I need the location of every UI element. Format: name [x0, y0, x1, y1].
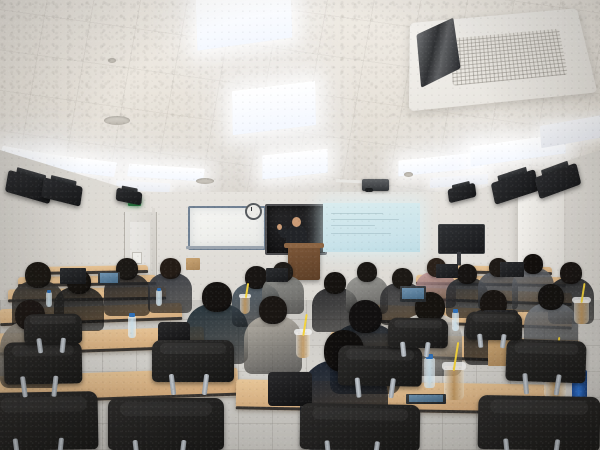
laptop-screen: [100, 273, 118, 283]
water-bottle: [156, 290, 162, 306]
chair-leg: [400, 342, 407, 357]
monitor: [60, 268, 86, 284]
presenter-head: [292, 217, 301, 227]
attendee: [244, 296, 302, 382]
water-bottle: [424, 358, 435, 388]
wall-tv: [438, 224, 485, 254]
podium-top: [284, 243, 324, 248]
chair-leg: [551, 439, 560, 450]
chair-leg: [522, 373, 529, 394]
chair[interactable]: [478, 395, 600, 450]
laptop[interactable]: [406, 394, 446, 404]
attendee-head: [560, 262, 582, 284]
chair-highlight: [120, 402, 213, 416]
iced-coffee-cup: [296, 332, 310, 358]
water-bottle: [128, 316, 136, 338]
chair-leg: [372, 441, 380, 450]
chair[interactable]: [388, 317, 449, 348]
attendee-head: [25, 262, 51, 288]
chair[interactable]: [338, 345, 423, 386]
whiteboard-marker-tray: [186, 246, 264, 249]
laptop[interactable]: [98, 272, 120, 285]
attendee-head: [538, 284, 564, 310]
attendee-head: [457, 264, 477, 284]
attendee-head: [259, 296, 287, 324]
projector-lens-icon: [365, 188, 373, 192]
attendee-head: [349, 300, 382, 333]
bottle-cap-icon: [47, 290, 51, 293]
monitor: [500, 262, 524, 277]
chair-highlight: [312, 407, 408, 421]
attendee: [104, 258, 150, 322]
chair-leg: [477, 334, 483, 348]
water-bottle: [452, 312, 459, 331]
chair-highlight: [490, 399, 588, 415]
chair-leg: [503, 438, 511, 450]
laptop-screen: [402, 288, 424, 300]
chair-leg: [325, 440, 332, 450]
backpack: [268, 372, 312, 406]
iced-coffee-cup: [574, 300, 589, 324]
photo-scene: Lecture hall seminar photograph Universi…: [0, 0, 600, 450]
chair[interactable]: [152, 340, 234, 382]
wall-clock: [245, 203, 262, 220]
iced-coffee-cup: [240, 296, 250, 314]
smoke-detector: [108, 58, 116, 63]
attendee-head: [160, 258, 181, 279]
chair[interactable]: [0, 391, 98, 450]
chair-leg: [12, 439, 21, 450]
chair-highlight: [30, 316, 77, 325]
attendee-head: [357, 262, 377, 282]
smoke-detector: [404, 172, 413, 177]
attendee-head: [202, 282, 232, 312]
chair-leg: [56, 438, 64, 450]
projection-screen: [323, 203, 420, 252]
attendee-head: [324, 272, 346, 294]
chair[interactable]: [24, 313, 83, 344]
chair-highlight: [472, 314, 517, 322]
chair[interactable]: [108, 398, 224, 450]
water-bottle: [46, 292, 52, 307]
bottle-cap-icon: [129, 313, 135, 317]
ceiling-vent: [104, 116, 130, 125]
laptop[interactable]: [400, 286, 426, 302]
chair-leg: [132, 439, 140, 450]
ceiling-vent: [196, 178, 214, 184]
chair-highlight: [0, 396, 87, 413]
bottle-cap-icon: [157, 288, 161, 291]
bottle-cap-icon: [453, 309, 458, 312]
monitor: [266, 268, 288, 282]
attendee-torso: [244, 316, 302, 374]
chair[interactable]: [300, 403, 421, 450]
chair-highlight: [514, 342, 578, 355]
chair[interactable]: [505, 339, 586, 384]
chair-leg: [36, 338, 43, 354]
chair-highlight: [160, 343, 226, 354]
iced-coffee-cup: [444, 366, 464, 400]
paper-bag: [186, 258, 200, 270]
chair-leg: [178, 439, 186, 450]
attendee-head: [523, 254, 543, 274]
chair[interactable]: [4, 341, 83, 384]
monitor: [436, 264, 458, 278]
chair-highlight: [394, 320, 442, 329]
laptop-screen: [409, 395, 443, 402]
presenter-hand: [277, 224, 282, 230]
chair[interactable]: [466, 312, 522, 341]
